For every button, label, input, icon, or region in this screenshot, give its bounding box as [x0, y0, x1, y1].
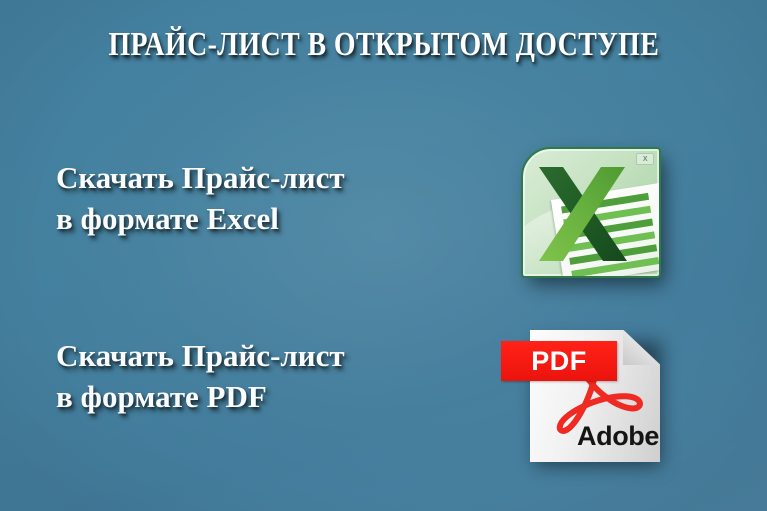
excel-letter-x-icon: [537, 165, 629, 265]
download-link-pdf[interactable]: Скачать Прайс-лист в формате PDF: [56, 335, 486, 417]
page-title: ПРАЙС-ЛИСТ В ОТКРЫТОМ ДОСТУПЕ: [0, 26, 767, 64]
page-title-text: ПРАЙС-ЛИСТ В ОТКРЫТОМ ДОСТУПЕ: [108, 26, 659, 64]
excel-icon-body: X: [521, 147, 661, 278]
excel-file-icon[interactable]: X: [521, 147, 661, 278]
adobe-brand-label: Adobe: [577, 422, 659, 450]
price-list-banner: ПРАЙС-ЛИСТ В ОТКРЫТОМ ДОСТУПЕ Скачать Пр…: [0, 0, 767, 511]
pdf-file-icon[interactable]: PDF Adobe: [501, 330, 663, 466]
download-link-excel-line1: Скачать Прайс-лист: [56, 157, 486, 198]
excel-icon-corner-badge: X: [636, 153, 654, 165]
pdf-banner-label: PDF: [531, 348, 587, 375]
pdf-banner: PDF: [501, 341, 617, 381]
download-link-pdf-line1: Скачать Прайс-лист: [56, 335, 486, 376]
download-link-excel-line2: в формате Excel: [56, 198, 486, 239]
download-link-pdf-line2: в формате PDF: [56, 376, 486, 417]
download-link-excel[interactable]: Скачать Прайс-лист в формате Excel: [56, 157, 486, 239]
